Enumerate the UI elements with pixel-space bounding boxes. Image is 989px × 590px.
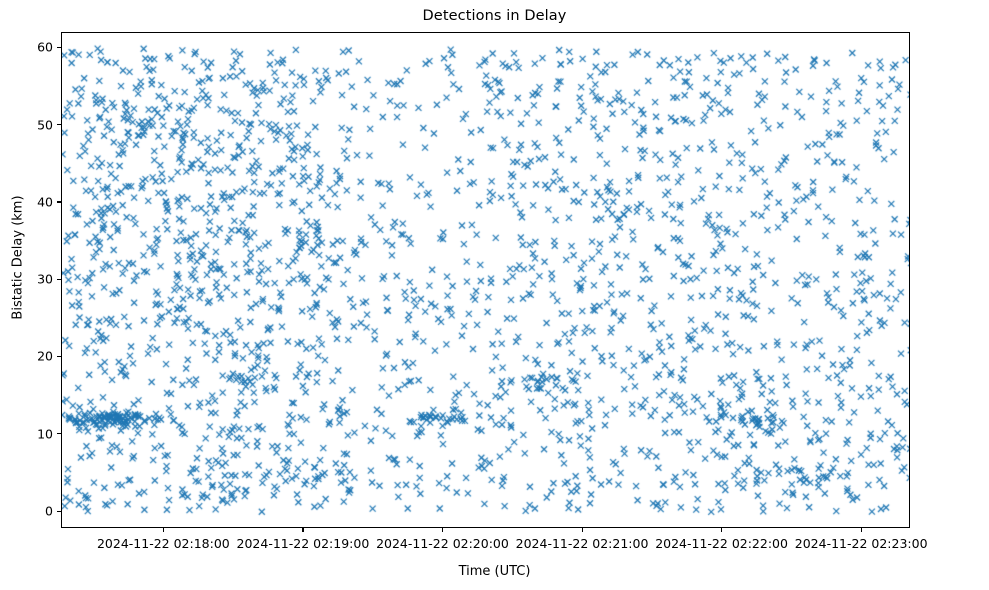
- y-tick-label: 10: [7, 426, 53, 441]
- x-tick-label: 2024-11-22 02:22:00: [655, 536, 788, 551]
- y-tick-mark: [57, 47, 61, 48]
- y-tick-label: 60: [7, 40, 53, 55]
- y-tick-mark: [57, 356, 61, 357]
- y-tick-mark: [57, 201, 61, 202]
- x-tick-label: 2024-11-22 02:18:00: [97, 536, 230, 551]
- x-tick-mark: [302, 528, 303, 532]
- x-tick-label: 2024-11-22 02:23:00: [795, 536, 928, 551]
- x-tick-mark: [582, 528, 583, 532]
- y-tick-mark: [57, 279, 61, 280]
- y-tick-mark: [57, 511, 61, 512]
- y-axis-tick-labels: 0102030405060: [0, 0, 53, 590]
- x-axis-label: Time (UTC): [0, 564, 989, 579]
- x-tick-mark: [721, 528, 722, 532]
- chart-figure: Detections in Delay 0102030405060 2024-1…: [0, 0, 989, 590]
- x-tick-mark: [442, 528, 443, 532]
- x-tick-mark: [861, 528, 862, 532]
- y-tick-label: 0: [7, 504, 53, 519]
- y-tick-mark: [57, 433, 61, 434]
- chart-title: Detections in Delay: [0, 8, 989, 24]
- x-tick-label: 2024-11-22 02:19:00: [237, 536, 370, 551]
- plot-area: [61, 32, 910, 528]
- scatter-points-canvas: [62, 33, 910, 528]
- x-tick-mark: [163, 528, 164, 532]
- y-tick-mark: [57, 124, 61, 125]
- x-tick-label: 2024-11-22 02:20:00: [376, 536, 509, 551]
- y-tick-label: 50: [7, 117, 53, 132]
- x-tick-label: 2024-11-22 02:21:00: [516, 536, 649, 551]
- y-axis-label: Bistatic Delay (km): [11, 158, 26, 358]
